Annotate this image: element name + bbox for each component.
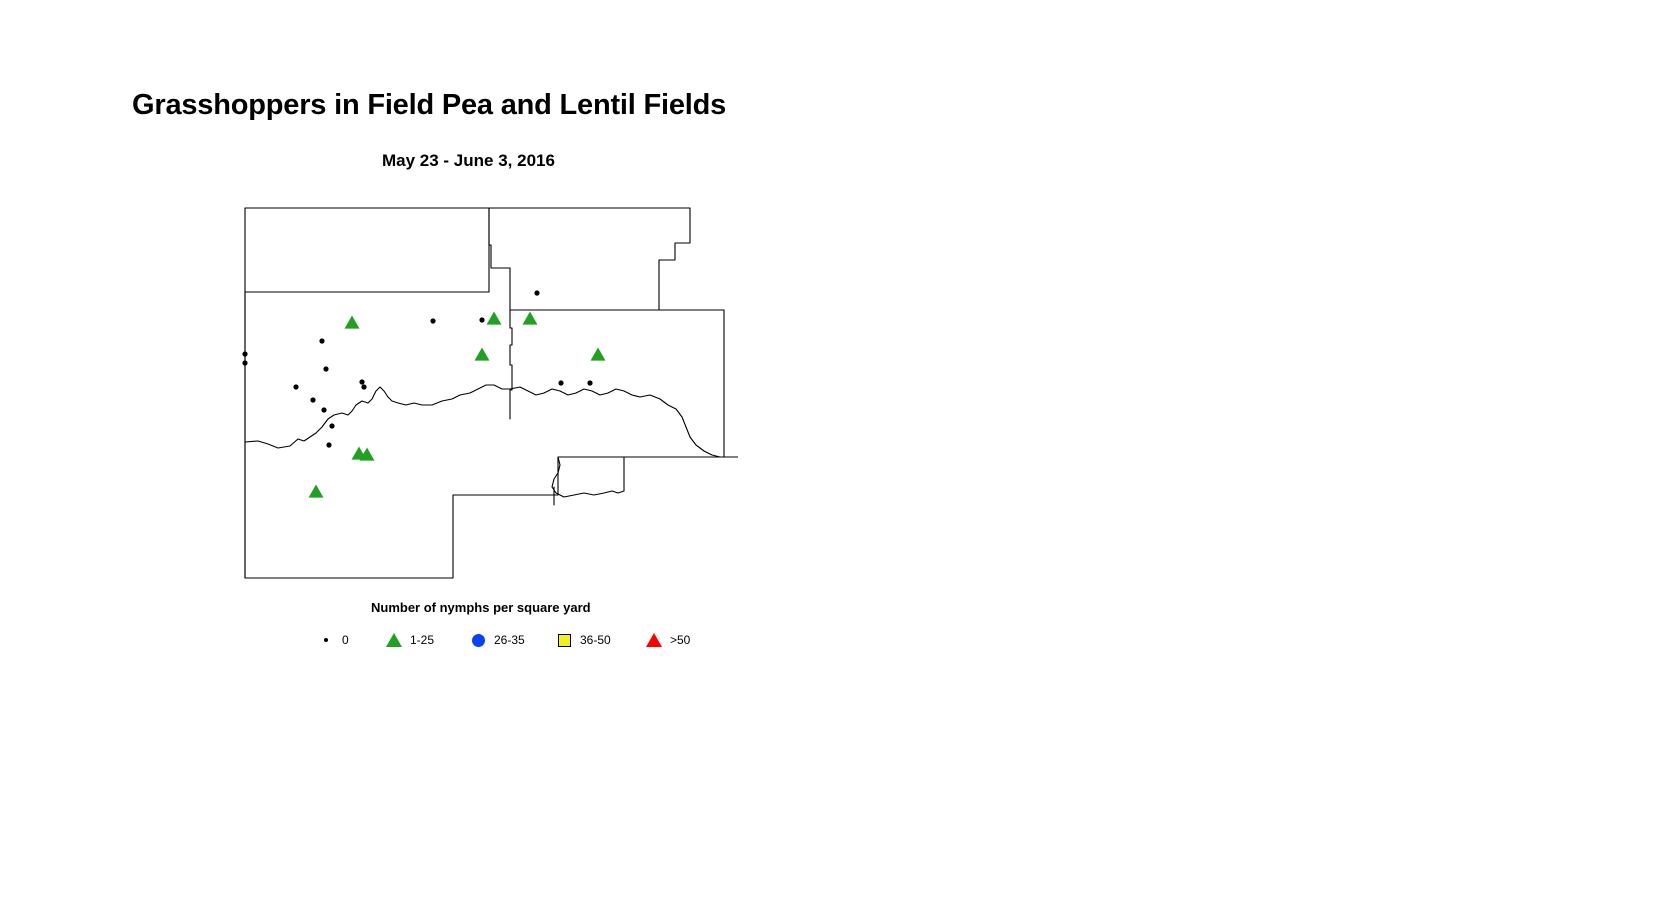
map-plot-area (238, 205, 738, 590)
legend-label: 0 (342, 633, 349, 647)
data-point-zero (323, 366, 328, 371)
boundary-middle-vertical (510, 310, 512, 419)
boundary-river-line (245, 385, 720, 457)
boundary-east-vertical (558, 310, 724, 457)
boundary-northwest-block (245, 208, 489, 292)
data-markers (242, 290, 605, 497)
data-point-zero (359, 379, 364, 384)
data-point-zero (326, 442, 331, 447)
legend: 0 1-25 26-35 36-50 >50 (316, 629, 716, 651)
legend-label: 26-35 (494, 633, 525, 647)
legend-label: 36-50 (580, 633, 611, 647)
data-point-triangle (591, 348, 606, 361)
data-point-zero (293, 384, 298, 389)
legend-item-4[interactable]: >50 (644, 629, 690, 651)
data-point-zero (242, 351, 247, 356)
data-point-zero (430, 318, 435, 323)
data-point-zero (319, 338, 324, 343)
data-point-zero (361, 384, 366, 389)
data-point-zero (310, 397, 315, 402)
legend-title: Number of nymphs per square yard (371, 600, 591, 615)
map-svg (238, 205, 738, 590)
legend-item-1[interactable]: 1-25 (384, 629, 434, 651)
legend-circle-blue-icon (468, 630, 488, 650)
county-boundaries (245, 208, 738, 578)
boundary-west-outer (245, 292, 558, 578)
data-point-zero (321, 407, 326, 412)
data-point-zero (534, 290, 539, 295)
figure-canvas: Grasshoppers in Field Pea and Lentil Fie… (0, 0, 1673, 900)
legend-label: >50 (670, 633, 690, 647)
legend-item-2[interactable]: 26-35 (468, 629, 525, 651)
data-point-zero (587, 380, 592, 385)
legend-item-3[interactable]: 36-50 (554, 629, 611, 651)
legend-item-0[interactable]: 0 (316, 629, 349, 651)
chart-subtitle: May 23 - June 3, 2016 (382, 151, 555, 171)
legend-label: 1-25 (410, 633, 434, 647)
data-point-triangle (487, 312, 502, 325)
legend-dot-icon (316, 630, 336, 650)
legend-square-yellow-icon (554, 630, 574, 650)
boundary-south-meander (552, 457, 624, 497)
boundary-northeast-block (489, 208, 690, 310)
data-point-zero (329, 423, 334, 428)
data-point-triangle (475, 348, 490, 361)
data-point-triangle (345, 316, 360, 329)
legend-triangle-green-icon (384, 630, 404, 650)
chart-title: Grasshoppers in Field Pea and Lentil Fie… (132, 89, 726, 122)
data-point-zero (558, 380, 563, 385)
data-point-triangle (309, 485, 324, 498)
data-point-zero (479, 317, 484, 322)
data-point-triangle (523, 312, 538, 325)
legend-triangle-red-icon (644, 630, 664, 650)
data-point-zero (242, 360, 247, 365)
